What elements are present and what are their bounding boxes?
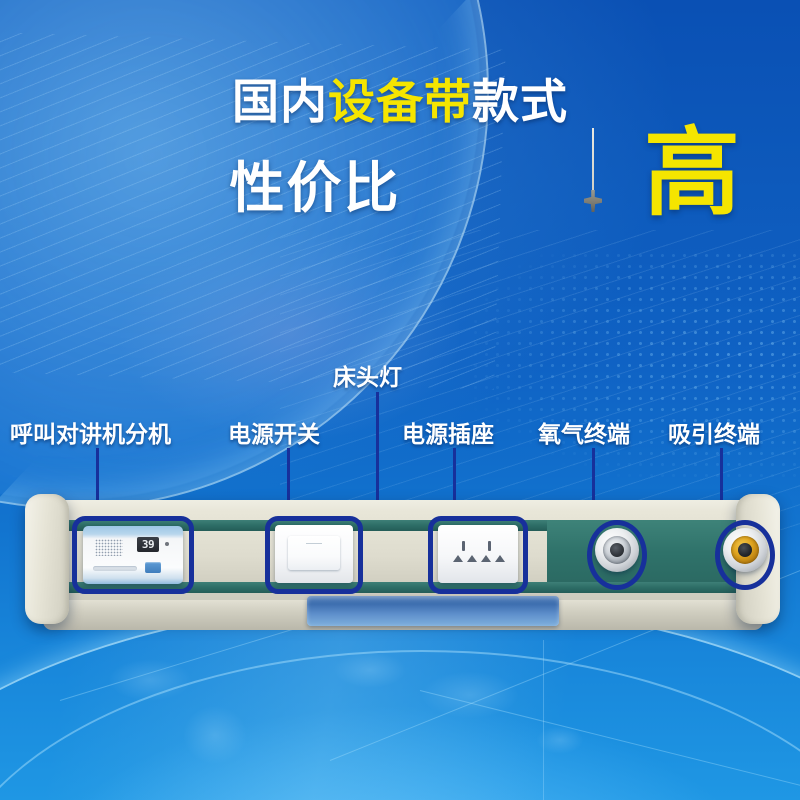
callout-label-suction: 吸引终端 — [668, 415, 760, 449]
promo-banner: 国内设备带款式 性价比 高 呼叫对讲机分机 电源开关 床头灯 电源插座 氧气终端… — [0, 0, 800, 800]
bg-vertical-1 — [543, 640, 544, 800]
bed-light-diffuser — [307, 596, 559, 626]
bed-head-unit: 39 — [25, 500, 780, 635]
callout-label-power-socket: 电源插座 — [402, 415, 494, 449]
pull-cord — [592, 128, 594, 198]
highlight-circle-oxygen — [587, 520, 647, 590]
highlight-box-power-socket — [428, 516, 528, 594]
headline-block: 国内设备带款式 性价比 高 — [0, 78, 800, 229]
headline-line1-part1: 国内 — [232, 75, 328, 130]
highlight-box-power-switch — [265, 516, 363, 594]
headline-line-2-wrapper: 性价比 高 — [0, 143, 800, 229]
highlight-box-intercom — [72, 516, 194, 594]
unit-end-cap-left — [25, 494, 69, 624]
callout-label-bed-light: 床头灯 — [333, 358, 402, 392]
callout-label-oxygen: 氧气终端 — [538, 415, 630, 449]
headline-line1-part2: 款式 — [472, 75, 568, 130]
callout-label-power-switch: 电源开关 — [228, 415, 320, 449]
headline-line1-highlight: 设备带 — [328, 75, 472, 130]
highlight-circle-suction — [715, 520, 775, 590]
headline-gao-highlight: 高 — [644, 125, 740, 221]
callout-label-intercom: 呼叫对讲机分机 — [10, 415, 171, 449]
